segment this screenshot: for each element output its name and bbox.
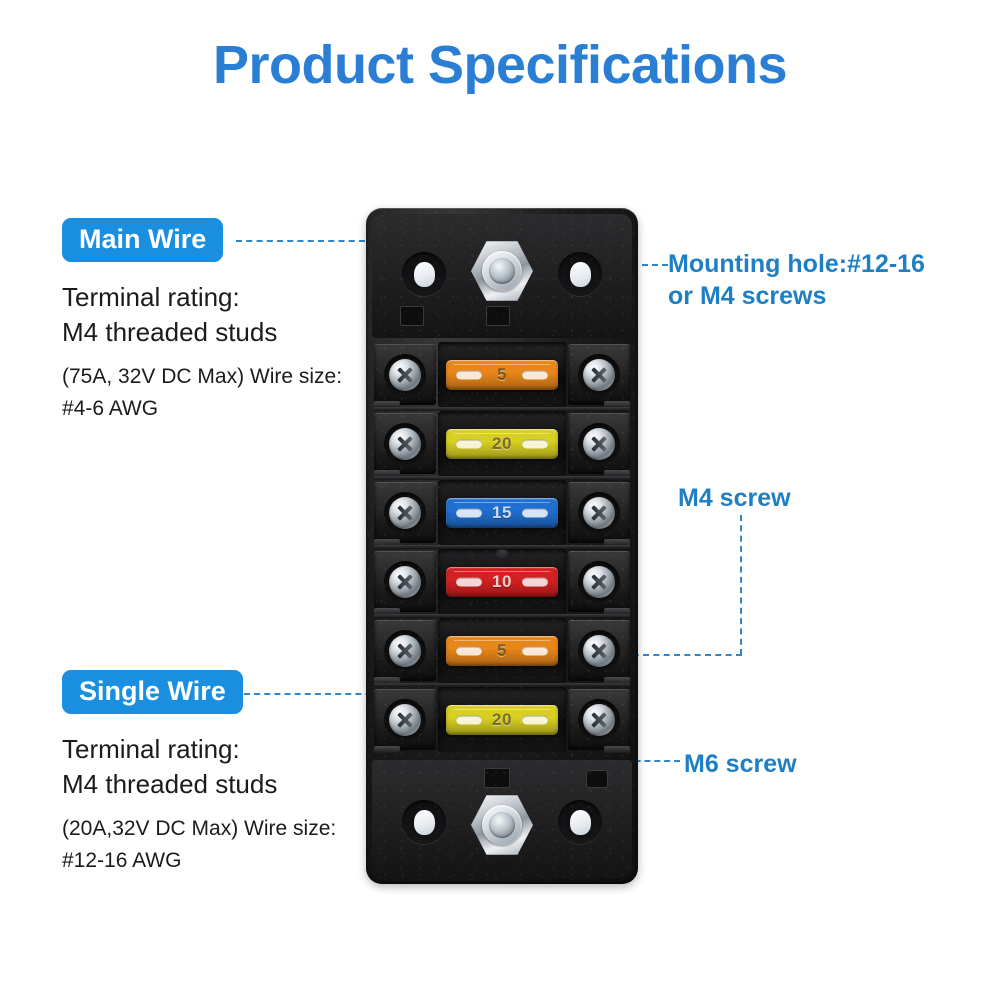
phillips-screw-icon [389, 428, 421, 460]
fuse-terminal-slot-left [456, 715, 482, 724]
page-title: Product Specifications [0, 34, 1000, 96]
fuse-terminal-slot-left [456, 577, 482, 586]
terminal-bay-left [374, 344, 436, 405]
badge-single-wire: Single Wire [62, 670, 243, 714]
vent-top-left [400, 306, 424, 326]
phillips-screw-icon [583, 704, 615, 736]
vent-bottom-center [484, 768, 510, 788]
phillips-screw-icon [583, 497, 615, 529]
vent-bottom-right [586, 770, 608, 788]
terminal-bay-left [374, 689, 436, 750]
blade-fuse[interactable]: 5 [446, 360, 558, 390]
fuse-rating-label: 20 [492, 710, 512, 730]
fuse-slot: 5 [438, 342, 566, 407]
single-terminal-rating-label: Terminal rating: [62, 732, 336, 767]
blade-fuse[interactable]: 20 [446, 429, 558, 459]
fuse-row[interactable]: 5 [372, 616, 632, 685]
terminal-bay-right [568, 344, 630, 405]
fuse-terminal-slot-left [456, 370, 482, 379]
single-rating-wire-size: (20A,32V DC Max) Wire size: [62, 813, 336, 846]
fuse-slot: 5 [438, 618, 566, 683]
terminal-bay-left [374, 620, 436, 681]
phillips-screw-icon [389, 566, 421, 598]
terminal-bay-left [374, 482, 436, 543]
bus-tab-right [604, 746, 630, 753]
fuse-rating-label: 20 [492, 434, 512, 454]
hex-stud-top-m6 [471, 240, 533, 302]
spec-block-single-wire: Terminal rating: M4 threaded studs (20A,… [62, 732, 336, 878]
fuse-terminal-slot-left [456, 508, 482, 517]
leader-m4-screw-vertical [740, 515, 742, 655]
mounting-hole-bottom-right [558, 800, 602, 844]
phillips-screw-icon [583, 359, 615, 391]
fuse-terminal-slot-right [522, 715, 548, 724]
single-stud-type: M4 threaded studs [62, 767, 336, 802]
terminal-bay-right [568, 413, 630, 474]
callout-m6-screw: M6 screw [684, 748, 797, 780]
fuse-row[interactable]: 5 [372, 340, 632, 409]
terminal-screw-right[interactable] [578, 630, 620, 672]
terminal-screw-right[interactable] [578, 492, 620, 534]
terminal-bay-right [568, 620, 630, 681]
terminal-bay-left [374, 551, 436, 612]
mounting-hole-bottom-left [402, 800, 446, 844]
terminal-bay-right [568, 482, 630, 543]
blade-fuse[interactable]: 10 [446, 567, 558, 597]
callout-mounting-line1: Mounting hole:#12-16 [668, 248, 925, 280]
fuse-rating-label: 15 [492, 503, 512, 523]
fuse-rating-label: 5 [497, 365, 507, 385]
fuse-terminal-slot-right [522, 439, 548, 448]
terminal-bay-right [568, 689, 630, 750]
phillips-screw-icon [583, 635, 615, 667]
terminal-screw-left[interactable] [384, 354, 426, 396]
fuse-row[interactable]: 20 [372, 409, 632, 478]
fuse-block-device: 5201510520 [366, 208, 638, 884]
fuse-row[interactable]: 20 [372, 685, 632, 754]
main-awg: #4-6 AWG [62, 393, 342, 426]
terminal-screw-right[interactable] [578, 423, 620, 465]
terminal-screw-left[interactable] [384, 561, 426, 603]
terminal-screw-right[interactable] [578, 354, 620, 396]
mounting-hole-top-left [402, 252, 446, 296]
phillips-screw-icon [389, 359, 421, 391]
terminal-bay-right [568, 551, 630, 612]
fuse-terminal-slot-right [522, 508, 548, 517]
bus-tab-left [374, 746, 400, 753]
fuse-slot: 20 [438, 687, 566, 752]
vent-top-center [486, 306, 510, 326]
blade-fuse[interactable]: 20 [446, 705, 558, 735]
fuse-rating-label: 5 [497, 641, 507, 661]
callout-mounting-hole: Mounting hole:#12-16 or M4 screws [668, 248, 925, 312]
single-awg: #12-16 AWG [62, 845, 336, 878]
spec-block-main-wire: Terminal rating: M4 threaded studs (75A,… [62, 280, 342, 426]
fuse-terminal-slot-left [456, 439, 482, 448]
mounting-hole-top-right [558, 252, 602, 296]
fuse-terminal-slot-right [522, 370, 548, 379]
terminal-screw-right[interactable] [578, 699, 620, 741]
main-stud-type: M4 threaded studs [62, 315, 342, 350]
phillips-screw-icon [389, 497, 421, 529]
callout-m4-screw: M4 screw [678, 482, 791, 514]
phillips-screw-icon [389, 704, 421, 736]
phillips-screw-icon [389, 635, 421, 667]
terminal-screw-left[interactable] [384, 423, 426, 465]
phillips-screw-icon [583, 566, 615, 598]
fuse-terminal-slot-left [456, 646, 482, 655]
fuse-terminal-slot-right [522, 646, 548, 655]
main-rating-wire-size: (75A, 32V DC Max) Wire size: [62, 361, 342, 394]
blade-fuse[interactable]: 15 [446, 498, 558, 528]
blade-fuse[interactable]: 5 [446, 636, 558, 666]
fuse-terminal-slot-right [522, 577, 548, 586]
callout-mounting-line2: or M4 screws [668, 280, 925, 312]
terminal-screw-right[interactable] [578, 561, 620, 603]
fuse-rows: 5201510520 [372, 340, 632, 754]
terminal-screw-left[interactable] [384, 699, 426, 741]
fuse-slot: 20 [438, 411, 566, 476]
fuse-slot: 15 [438, 480, 566, 545]
fuse-rating-label: 10 [492, 572, 512, 592]
hex-stud-bottom-m6 [471, 794, 533, 856]
housing-dimple [494, 548, 510, 559]
badge-main-wire: Main Wire [62, 218, 223, 262]
terminal-screw-left[interactable] [384, 630, 426, 672]
fuse-row[interactable]: 15 [372, 478, 632, 547]
phillips-screw-icon [583, 428, 615, 460]
terminal-bay-left [374, 413, 436, 474]
main-terminal-rating-label: Terminal rating: [62, 280, 342, 315]
terminal-screw-left[interactable] [384, 492, 426, 534]
